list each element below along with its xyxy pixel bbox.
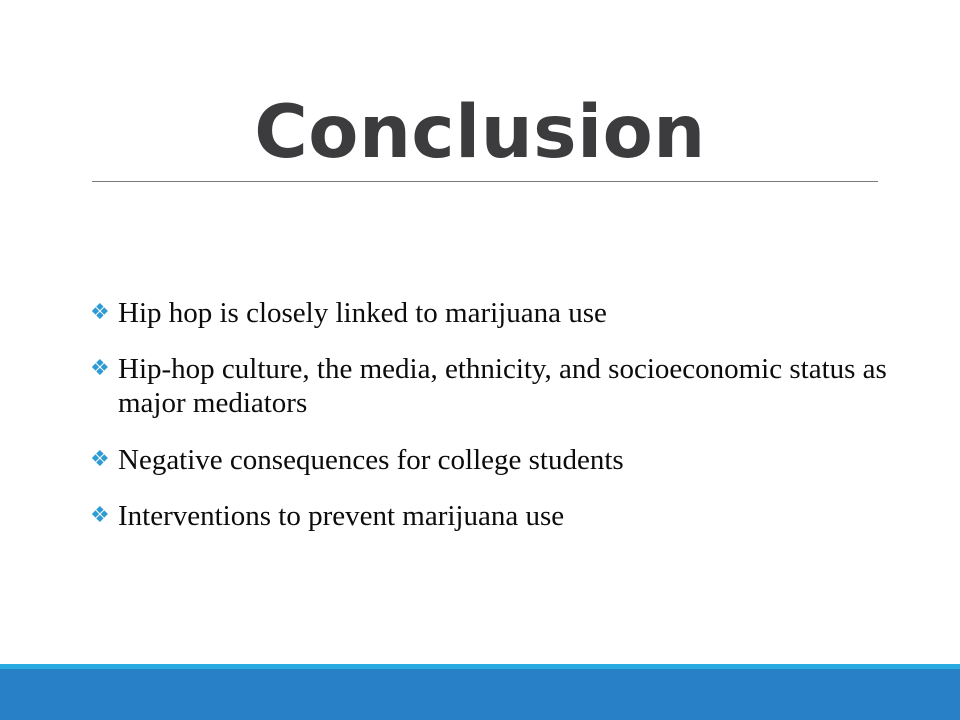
- list-item-label: Negative consequences for college studen…: [118, 443, 890, 477]
- page-title: Conclusion: [0, 96, 960, 169]
- presentation-slide: Conclusion ❖ Hip hop is closely linked t…: [0, 0, 960, 720]
- list-item: ❖ Interventions to prevent marijuana use: [90, 499, 890, 533]
- list-item: ❖ Negative consequences for college stud…: [90, 443, 890, 477]
- bullet-list: ❖ Hip hop is closely linked to marijuana…: [90, 296, 890, 533]
- slide-title-block: Conclusion: [0, 96, 960, 169]
- title-divider: [92, 181, 878, 182]
- list-item-label: Hip hop is closely linked to marijuana u…: [118, 296, 890, 330]
- diamond-bullet-icon: ❖: [90, 444, 116, 476]
- footer-bar: [0, 669, 960, 720]
- list-item-label: Hip-hop culture, the media, ethnicity, a…: [118, 352, 890, 420]
- list-item: ❖ Hip-hop culture, the media, ethnicity,…: [90, 352, 890, 420]
- diamond-bullet-icon: ❖: [90, 297, 116, 329]
- list-item-label: Interventions to prevent marijuana use: [118, 499, 890, 533]
- list-item: ❖ Hip hop is closely linked to marijuana…: [90, 296, 890, 330]
- diamond-bullet-icon: ❖: [90, 353, 116, 385]
- diamond-bullet-icon: ❖: [90, 500, 116, 532]
- slide-body: ❖ Hip hop is closely linked to marijuana…: [90, 296, 890, 533]
